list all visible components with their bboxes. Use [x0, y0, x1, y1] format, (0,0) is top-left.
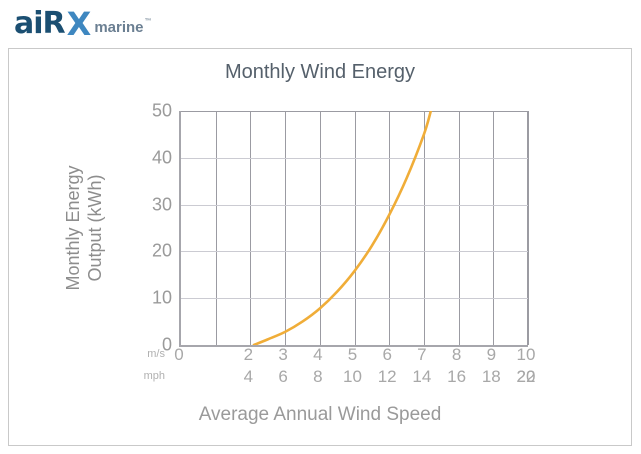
x-axis-tick-label-ms: 7 [417, 345, 426, 365]
vertical-gridline [528, 111, 529, 345]
x-axis-tick-label-ms: 10 [517, 345, 536, 365]
brand-logo: aiR X marine™ [14, 4, 151, 44]
x-axis-tick-label-mph: 10 [343, 367, 362, 387]
plot-area: 01020304050 [179, 111, 528, 347]
x-axis-tick-label-ms: 5 [348, 345, 357, 365]
x-axis-label: Average Annual Wind Speed [9, 404, 631, 426]
logo-x-text: X [67, 8, 92, 40]
x-axis-tick-label-ms: 8 [452, 345, 461, 365]
x-axis-tick-label-mph: 22 [517, 367, 536, 387]
y-axis-tick-label: 20 [152, 241, 172, 262]
x-axis-unit-ms: m/s [147, 348, 165, 360]
x-axis-tick-label-mph: 6 [278, 367, 287, 387]
y-axis-tick-label: 50 [152, 101, 172, 122]
energy-curve-path [254, 111, 431, 345]
logo-marine-word: marine [94, 19, 143, 36]
x-axis-tick-label-mph: 18 [482, 367, 501, 387]
x-axis-tick-label-ms: 4 [313, 345, 322, 365]
x-axis-tick-label-mph: 4 [244, 367, 253, 387]
chart-card: Monthly Wind Energy Monthly Energy Outpu… [8, 48, 632, 446]
chart-title: Monthly Wind Energy [9, 61, 631, 84]
x-axis-row-ms: m/s 02345678910 [179, 345, 526, 367]
plot-inner [181, 111, 528, 345]
x-axis-tick-label-mph: 16 [447, 367, 466, 387]
x-axis-tick-label-ms: 6 [382, 345, 391, 365]
x-axis-tick-label-mph: 14 [412, 367, 431, 387]
x-axis-unit-mph: mph [144, 370, 165, 382]
x-axis-tick-label-ms: 2 [244, 345, 253, 365]
logo-marine-text: marine™ [94, 20, 150, 35]
logo-air-text: aiR [14, 9, 65, 39]
x-axis-row-mph: mph 46810121416182022 [179, 367, 526, 389]
energy-curve [181, 111, 528, 345]
y-axis-label-line2: Output (kWh) [84, 165, 107, 290]
y-axis-label: Monthly Energy Output (kWh) [56, 111, 112, 345]
y-axis-tick-label: 40 [152, 147, 172, 168]
x-axis-tick-label-mph: 8 [313, 367, 322, 387]
x-axis-tick-label-ms: 3 [278, 345, 287, 365]
y-axis-label-line1: Monthly Energy [62, 165, 85, 290]
trademark-symbol: ™ [145, 18, 152, 25]
x-axis-tick-label-ms: 9 [487, 345, 496, 365]
x-axis-ticks: m/s 02345678910 mph 46810121416182022 [179, 345, 526, 389]
y-axis-tick-label: 30 [152, 194, 172, 215]
y-axis-tick-label: 10 [152, 288, 172, 309]
x-axis-tick-label-ms: 0 [174, 345, 183, 365]
x-axis-tick-label-mph: 12 [378, 367, 397, 387]
